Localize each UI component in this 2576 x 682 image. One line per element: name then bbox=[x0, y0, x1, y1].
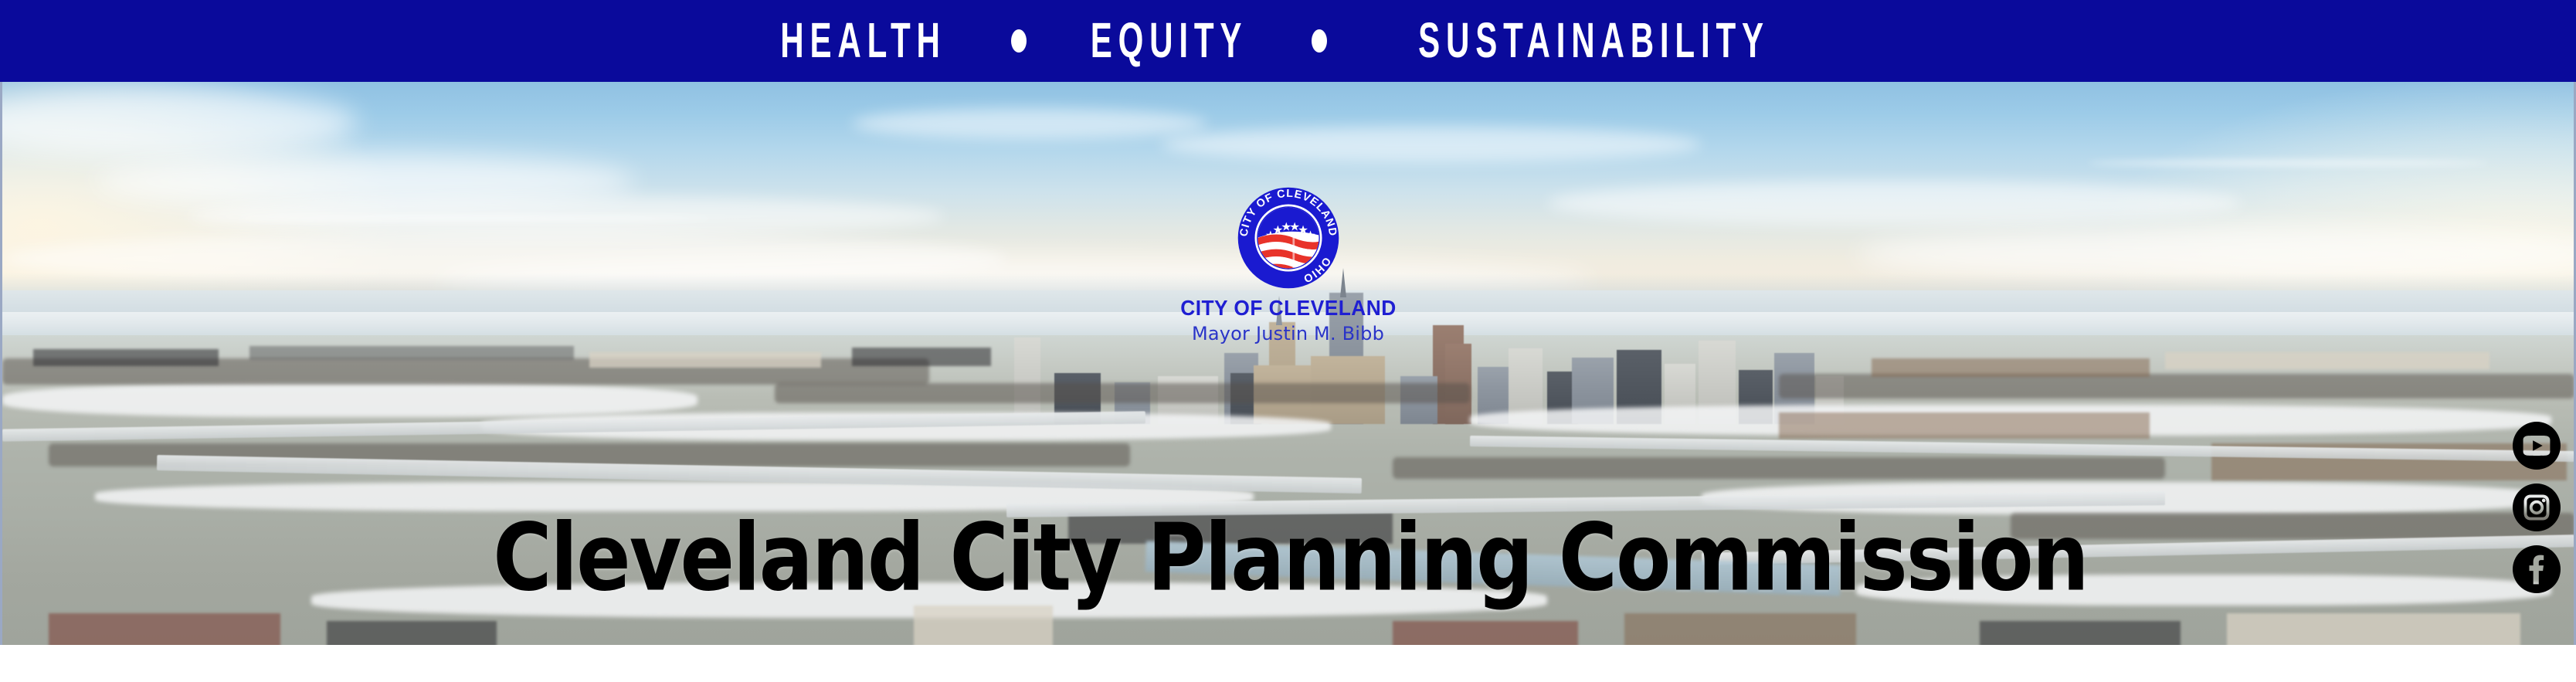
treeline bbox=[1779, 374, 2574, 399]
building-block bbox=[33, 349, 219, 366]
building-block bbox=[327, 621, 497, 645]
org-name: CITY OF CLEVELAND bbox=[1128, 297, 1448, 319]
cloud bbox=[852, 108, 1207, 139]
building-block bbox=[589, 352, 821, 368]
tagline-banner: HEALTH EQUITY SUSTAINABILITY bbox=[0, 0, 2576, 82]
building-block bbox=[1624, 613, 1856, 645]
page-title: Cleveland City Planning Commission bbox=[2, 509, 2576, 607]
bottom-white-strip bbox=[0, 645, 2576, 682]
tower bbox=[1014, 338, 1040, 424]
treeline bbox=[775, 383, 1470, 403]
tagline-word-sustainability: SUSTAINABILITY bbox=[1418, 16, 1770, 66]
bullet-dot-icon bbox=[1011, 29, 1027, 53]
city-of-cleveland-seal-icon: CITY OF CLEVELAND OHIO bbox=[1236, 185, 1341, 290]
mayor-name: Mayor Justin M. Bibb bbox=[1118, 324, 1458, 343]
building-block bbox=[249, 346, 574, 360]
page-root: HEALTH EQUITY SUSTAINABILITY bbox=[0, 0, 2576, 682]
treeline bbox=[1393, 457, 2165, 479]
building-block bbox=[2165, 352, 2489, 369]
instagram-icon[interactable] bbox=[2513, 484, 2561, 531]
facebook-icon[interactable] bbox=[2513, 545, 2561, 593]
building-block bbox=[1980, 621, 2181, 645]
cloud bbox=[2088, 161, 2489, 165]
cloud bbox=[234, 216, 713, 221]
cloud bbox=[1161, 127, 1702, 162]
social-links bbox=[2510, 422, 2563, 593]
snow-patch bbox=[2, 383, 697, 417]
bullet-dot-icon bbox=[1312, 29, 1327, 53]
building-block bbox=[2227, 613, 2520, 645]
youtube-icon[interactable] bbox=[2513, 422, 2561, 470]
cloud bbox=[1547, 181, 2242, 226]
building-block bbox=[1779, 412, 2150, 439]
building-block bbox=[852, 348, 991, 366]
tagline-word-equity: EQUITY bbox=[1091, 16, 1248, 66]
building-block bbox=[1393, 621, 1578, 645]
tagline-word-health: HEALTH bbox=[780, 16, 945, 66]
building-block bbox=[1872, 358, 2150, 377]
city-logo-block: CITY OF CLEVELAND OHIO bbox=[1118, 185, 1458, 343]
building-block bbox=[49, 613, 280, 645]
hero-photo: CITY OF CLEVELAND OHIO bbox=[0, 80, 2576, 645]
